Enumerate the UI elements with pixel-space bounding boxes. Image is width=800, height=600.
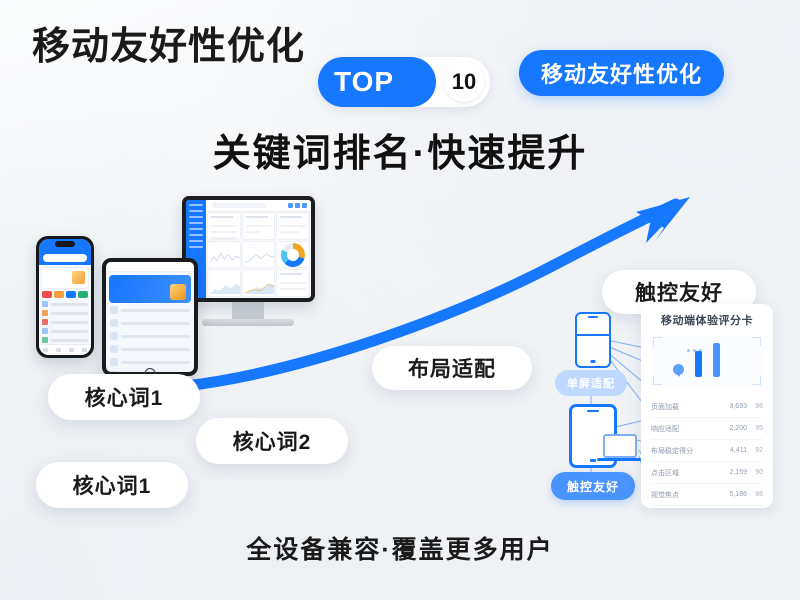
tablet-device — [102, 258, 198, 376]
row-name: 视觉焦点 — [651, 490, 721, 500]
top-rank-badge: TOP 10 — [318, 57, 490, 107]
dashboard-chart-card — [243, 242, 275, 268]
keyword-pill-2: 核心词2 — [196, 418, 348, 464]
dashboard-card — [277, 270, 309, 296]
phone-device — [36, 236, 94, 358]
row-value-2: 95 — [747, 425, 763, 432]
area-chart-icon — [210, 279, 240, 294]
dashboard-chart-card — [208, 242, 240, 268]
diagram-tag-single-screen: 单屏适配 — [555, 370, 627, 396]
score-card-title: 移动端体验评分卡 — [641, 312, 773, 328]
table-row: 视觉焦点 5,186 88 — [651, 484, 763, 506]
score-card-rows: 页面加载 3,693 98 响应适配 2,200 95 布局稳定得分 4,411… — [651, 396, 763, 508]
monitor-base — [202, 319, 294, 326]
phone-tabbar — [39, 344, 91, 355]
row-value-1: 2,200 — [721, 425, 747, 432]
thumbnail — [72, 271, 85, 284]
top-rank-badge-number: 10 — [444, 62, 484, 102]
row-value-2: 90 — [747, 469, 763, 476]
row-name: 布局稳定得分 — [651, 446, 721, 456]
list-item — [110, 358, 190, 366]
score-card: 移动端体验评分卡 页面加载 3,693 98 响应适配 2,200 — [641, 304, 773, 508]
row-name: 响应适配 — [651, 424, 721, 434]
list-item — [110, 332, 190, 340]
row-value-1: 2,159 — [721, 469, 747, 476]
row-name: 点击区域 — [651, 468, 721, 478]
list-item — [110, 306, 190, 314]
line-chart-icon — [245, 250, 275, 265]
list-item — [110, 319, 190, 327]
table-row: 响应适配 2,200 95 — [651, 418, 763, 440]
phone-category-chips — [42, 291, 88, 298]
row-value-2: 88 — [747, 491, 763, 498]
dashboard-search-bar — [212, 203, 267, 208]
dashboard-donut-card — [277, 242, 309, 268]
device-mockups — [22, 196, 322, 391]
page-subtitle: 关键词排名·快速提升 — [0, 122, 800, 177]
dashboard-grid — [208, 213, 309, 296]
footer-caption: 全设备兼容·覆盖更多用户 — [0, 530, 800, 566]
row-value-2: 92 — [747, 447, 763, 454]
mobile-experience-diagram: 单屏适配 触控友好 移动端体验评分卡 页面加载 3,693 — [545, 300, 777, 515]
layout-pill: 布局适配 — [372, 346, 532, 390]
dashboard-card — [277, 213, 309, 239]
dashboard-area-card — [243, 270, 275, 296]
page-title: 移动友好性优化 — [32, 28, 305, 66]
area-chart-icon — [245, 279, 275, 294]
row-value-1: 4,411 — [721, 447, 747, 454]
row-value-2: 98 — [747, 403, 763, 410]
list-item — [42, 319, 88, 325]
diagram-small-phone-icon — [575, 312, 611, 368]
dashboard-card — [243, 213, 275, 239]
table-row: 触摸响应时间 2,349 83 — [651, 506, 763, 508]
phone-notch — [55, 241, 75, 247]
row-value-1: 3,693 — [721, 403, 747, 410]
list-item — [42, 328, 88, 334]
table-row: 页面加载 3,693 98 — [651, 396, 763, 418]
header-tag: 移动友好性优化 — [519, 50, 724, 96]
dashboard-topbar-actions — [288, 203, 307, 208]
desktop-monitor — [182, 196, 315, 302]
row-value-1: 5,186 — [721, 491, 747, 498]
list-item — [42, 337, 88, 343]
monitor-screen — [186, 200, 311, 298]
keyword-pill-3: 核心词1 — [36, 462, 188, 508]
score-card-chart — [651, 335, 763, 387]
dashboard-topbar — [206, 200, 311, 212]
list-item — [42, 301, 88, 307]
list-item — [110, 345, 190, 353]
diagram-tag-touch-friendly: 触控友好 — [551, 472, 635, 500]
phone-screen — [39, 239, 91, 355]
tablet-banner — [109, 275, 191, 303]
top-rank-badge-label: TOP — [318, 57, 436, 107]
row-name: 页面加载 — [651, 402, 721, 412]
keyword-pill-1: 核心词1 — [48, 374, 200, 420]
phone-header — [39, 239, 91, 265]
chart-bars — [651, 343, 763, 377]
list-item — [42, 310, 88, 316]
dashboard-area-card — [208, 270, 240, 296]
tablet-header — [106, 262, 194, 272]
line-chart-icon — [210, 250, 240, 265]
poster-canvas: 移动友好性优化 TOP 10 移动友好性优化 关键词排名·快速提升 — [0, 0, 800, 600]
phone-search-bar — [43, 254, 87, 262]
dashboard-card — [208, 213, 240, 239]
monitor-neck — [232, 302, 264, 320]
tablet-screen — [106, 262, 194, 372]
phone-promo-card — [42, 268, 88, 288]
table-row: 布局稳定得分 4,411 92 — [651, 440, 763, 462]
donut-chart-icon — [281, 243, 305, 267]
diagram-laptop-icon — [603, 434, 639, 460]
table-row: 点击区域 2,159 90 — [651, 462, 763, 484]
